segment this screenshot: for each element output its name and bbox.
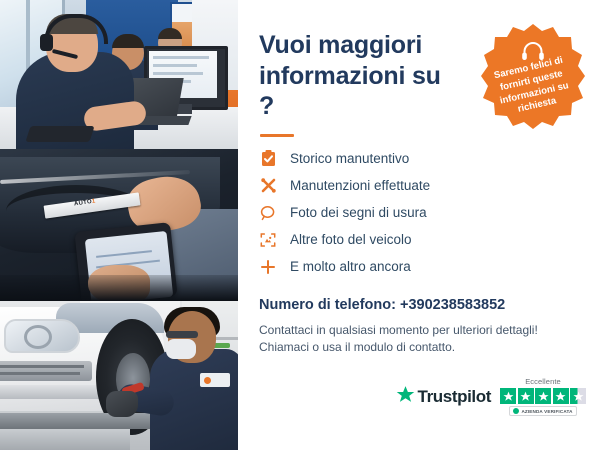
feature-list: Storico manutentivo Manutenzioni effettu… [259,150,578,276]
headlight-ring [24,325,52,349]
tablet-on-desk [25,126,94,142]
page-title: Vuoi maggiori informazioni su ? [259,30,459,122]
trustpilot-brand: Trustpilot [396,385,491,409]
contact-description-line-2: Chiamaci o usa il modulo di contatto. [259,339,578,357]
phone-label: Numero di telefono: [259,297,396,313]
rating-star-filled [535,388,551,404]
photo-column: AUTO1 [0,0,238,450]
rating-star-filled [500,388,516,404]
list-item-label: E molto altro ancora [290,259,411,274]
scan-frame-icon [259,231,277,249]
list-item: Foto dei segni di usura [259,204,578,222]
monitor-screen-row [153,64,197,67]
list-item: Manutenzioni effettuate [259,177,578,195]
grille-slot [0,365,84,368]
call-center-photo [0,0,238,149]
rating-star-partial [570,388,586,404]
list-item: E molto altro ancora [259,258,578,276]
car-bumper-lip [0,385,106,399]
rating-star-filled [553,388,569,404]
car-lift-arm [0,413,160,429]
monitor-screen-row [153,56,209,59]
verified-company-badge: AZIENDA VERIFICATA [509,406,576,416]
list-item-label: Altre foto del veicolo [290,232,412,247]
trustpilot-name: Trustpilot [418,387,491,407]
headset-earcup-icon [40,34,53,51]
list-item-label: Storico manutentivo [290,151,409,166]
trustpilot-rating-block: Eccellente [500,377,586,416]
trustpilot-widget[interactable]: Trustpilot Eccellente [396,377,586,416]
face-mask [166,339,196,359]
callout-badge: Saremo felici di fornirti queste informa… [478,22,588,132]
monitor-screen-row [153,72,203,75]
grille-slot [0,372,80,375]
list-item: Altre foto del veicolo [259,231,578,249]
contact-description: Contattaci in qualsiasi momento per ulte… [259,322,578,358]
rating-star-filled [518,388,534,404]
trustpilot-rating-label: Eccellente [525,377,561,386]
search-bubble-icon [259,204,277,222]
content-panel: Vuoi maggiori informazioni su ? Storico … [238,0,600,450]
car-lift-base [0,429,130,450]
verified-company-text: AZIENDA VERIFICATA [521,409,572,414]
plus-icon [259,258,277,276]
list-item-label: Manutenzioni effettuate [290,178,430,193]
promo-card: AUTO1 [0,0,600,450]
list-item-label: Foto dei segni di usura [290,205,427,220]
verified-check-icon [513,408,519,414]
safety-glasses-icon [166,331,198,338]
phone-number-line: Numero di telefono: +390238583852 [259,297,578,313]
contact-description-line-1: Contattaci in qualsiasi momento per ulte… [259,322,578,340]
page-title-line-2: informazioni su ? [259,62,441,121]
vehicle-inspection-photo: AUTO1 [0,149,238,301]
work-glove [106,391,138,417]
photo-bottom-shadow [0,275,238,301]
car-grille [0,361,92,381]
phone-number[interactable]: +390238583852 [400,297,505,313]
wrench-cross-icon [259,177,277,195]
list-item: Storico manutentivo [259,150,578,168]
title-divider [260,134,294,137]
mechanic-wheel-photo [0,301,238,450]
trustpilot-stars [500,388,586,404]
uniform-logo-dot [204,377,211,384]
page-title-line-1: Vuoi maggiori [259,31,422,59]
clipboard-check-icon [259,150,277,168]
trustpilot-star-icon [396,385,415,409]
